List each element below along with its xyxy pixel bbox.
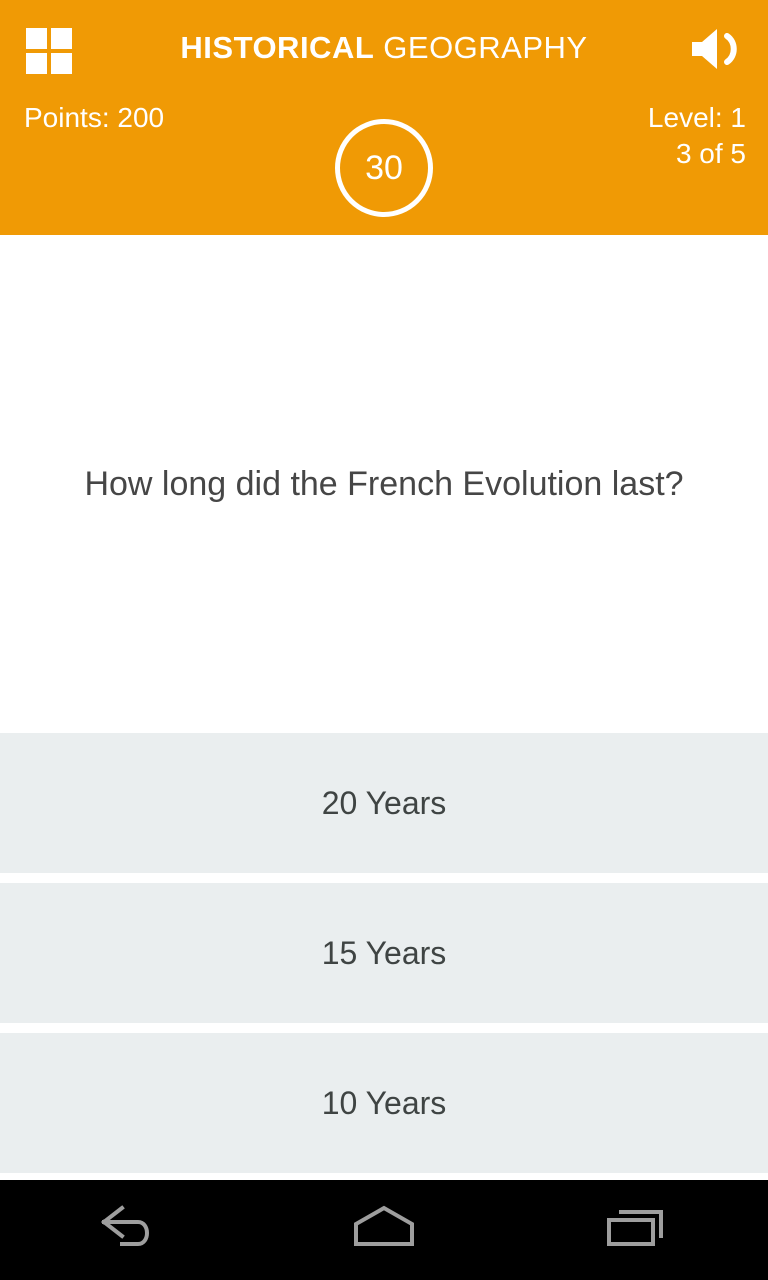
quiz-screen: HISTORICALGEOGRAPHY Points: 200 Level: 1… [0, 0, 768, 1280]
answer-option[interactable]: 15 Years [0, 883, 768, 1023]
answer-option[interactable]: 10 Years [0, 1033, 768, 1173]
level-label: Level: 1 [648, 100, 746, 136]
home-icon [348, 1202, 420, 1259]
nav-back-button[interactable] [0, 1180, 256, 1280]
back-arrow-icon [94, 1202, 162, 1259]
answer-options-list: 20 Years 15 Years 10 Years [0, 733, 768, 1180]
speaker-icon[interactable] [688, 26, 746, 72]
question-area: How long did the French Evolution last? [0, 235, 768, 733]
answer-option[interactable]: 20 Years [0, 733, 768, 873]
answer-option-label: 15 Years [322, 933, 447, 973]
recents-icon [603, 1202, 677, 1259]
timer-circle: 30 [335, 119, 433, 217]
app-title-primary: HISTORICAL [180, 30, 374, 65]
nav-recents-button[interactable] [512, 1180, 768, 1280]
points-label: Points: 200 [24, 100, 164, 136]
app-title-secondary: GEOGRAPHY [383, 30, 587, 65]
nav-home-button[interactable] [256, 1180, 512, 1280]
app-header: HISTORICALGEOGRAPHY Points: 200 Level: 1… [0, 0, 768, 235]
question-text: How long did the French Evolution last? [39, 462, 729, 506]
timer-value: 30 [365, 151, 403, 185]
app-title: HISTORICALGEOGRAPHY [0, 26, 768, 70]
android-navigation-bar [0, 1180, 768, 1280]
answer-option-label: 20 Years [322, 783, 447, 823]
answer-option-label: 10 Years [322, 1083, 447, 1123]
progress-label: 3 of 5 [648, 136, 746, 172]
level-info: Level: 1 3 of 5 [648, 100, 746, 172]
